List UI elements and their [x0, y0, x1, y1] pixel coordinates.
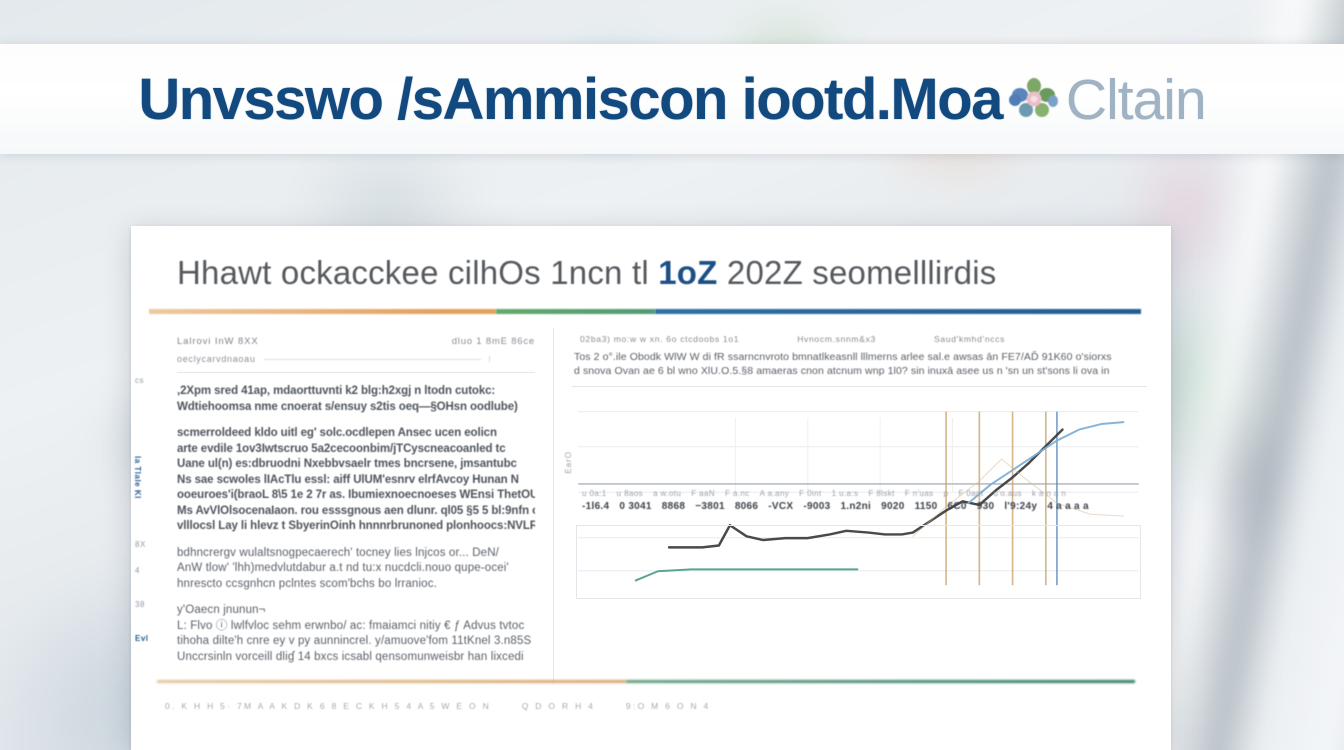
header-title-strong: Unvsswo /sAmmiscon iootd.Moa	[138, 66, 1002, 133]
paragraph-block: у'Oaecn jnunun¬ L: Flvo ⓘ lwlfvloc sehm …	[177, 603, 535, 665]
chart-note-line: Tos 2 o°.ile Obodk WlW W di fR ssarncnvr…	[574, 350, 1149, 364]
chart-column-header: Saud'kmhd'nccs	[934, 334, 1005, 344]
screenshot-stage: Unvsswo /sAmmiscon iootd.Moa	[0, 0, 1344, 750]
paragraph-line: tihoha dilte'h cnre eу v pу aunnincrel. …	[177, 634, 535, 650]
paragraph-block: scmerroldeed kldo uitl eg' solc.ocdlepen…	[177, 426, 535, 535]
document-body-columns: cs la Tlale Kl 8X 4 38 Evl Lalrovi InW 8…	[131, 324, 1171, 684]
text-column-divider	[177, 372, 535, 373]
chart-tick-bold: 1150	[915, 501, 938, 512]
chart-tick-bold: 0 3041	[619, 501, 651, 512]
paragraph-line: у'Oaecn jnunun¬	[177, 603, 535, 619]
chart-tick-faint: F aaN	[691, 489, 715, 498]
line-chart-plot: EarO u 0a:1 u 8aos a w.otu F aaN F a.nc …	[570, 393, 1149, 601]
chart-tick-faint: A a.any	[760, 489, 790, 498]
chart-tick-faint: u'o.aus	[994, 489, 1022, 498]
header-title-group: Unvsswo /sAmmiscon iootd.Moa	[138, 66, 1205, 133]
chart-tick-faint: F 0int	[799, 489, 821, 498]
chart-tick-bold: l'9:24у	[1004, 501, 1037, 512]
chart-tick-bold: 930	[977, 501, 995, 512]
paragraph-line: Uane ul(n) es:dbruodni Nxebbvsaelr tmes …	[177, 457, 535, 473]
chart-tick-bold: 1.n2ni	[840, 501, 871, 512]
chart-panel: 02ba3) mo:w w xn. 6o ctcdoobs 1o1 Hvnocm…	[554, 324, 1171, 684]
chart-note-line: d snova Ovan ae 6 bl wno XlU.O.5.§8 amae…	[574, 364, 1149, 378]
accent-rule-blue-segment	[655, 309, 1141, 314]
chart-tick-bold: 8066	[735, 501, 758, 512]
chart-tick-faint: F n'uas	[905, 489, 934, 498]
document-page: Hhawt ockacckee cilhOs 1ncn tl 1oZ 202Z …	[131, 226, 1171, 750]
document-title: Hhawt ockacckee cilhOs 1ncn tl 1oZ 202Z …	[177, 254, 1171, 292]
paragraph-line: ,2Xpm sred 41ap, mdaorttuvnti k2 blg:h2x…	[177, 384, 535, 400]
paragraph-line: Ms AvVlOlsocenaIaon. rou esssgnous aen d…	[177, 504, 535, 520]
footer-rule-green-segment	[626, 680, 1135, 683]
paragraph-block: bdhncrergv wulaltsnogpecaerech' tocney l…	[177, 546, 535, 593]
chart-tick-bold: -1l6.4	[582, 501, 609, 512]
margin-mark: 4	[135, 566, 140, 575]
site-header-bar: Unvsswo /sAmmiscon iootd.Moa	[0, 44, 1344, 154]
footer-text-segment: Q D O R H 4	[522, 701, 595, 711]
chart-column-header: 02ba3) mo:w w xn. 6o ctcdoobs 1o1	[580, 334, 739, 344]
chart-tick-faint: F a.nc	[725, 489, 750, 498]
accent-rule-orange-segment	[149, 309, 496, 314]
subtitle-text: oeclycarvdnaoau	[177, 354, 256, 364]
chart-note-block: Tos 2 o°.ile Obodk WlW W di fR ssarncnvr…	[574, 350, 1149, 378]
document-title-pre: Hhawt ockacckee cilhOs 1ncn tl	[177, 254, 649, 291]
chart-tick-bold: 4 a a a a	[1047, 501, 1089, 512]
subtitle-divider-line	[264, 359, 481, 360]
paragraph-block: ,2Xpm sred 41ap, mdaorttuvnti k2 blg:h2x…	[177, 384, 535, 415]
header-title-light: Cltain	[1066, 67, 1206, 133]
chart-tick-faint: u 8aos	[617, 489, 643, 498]
chart-tick-bold: -9003	[803, 501, 830, 512]
margin-mark: cs	[135, 376, 144, 385]
chart-tick-faint: F 8lskt	[868, 489, 894, 498]
paragraph-line: L: Flvo ⓘ lwlfvloc sehm erwnbo/ ac: fmai…	[177, 619, 535, 635]
margin-mark: la Tlale Kl	[133, 456, 142, 499]
document-meta-row: Lalrovi InW 8XX dluo 1 8mE 86ce	[177, 336, 535, 347]
paragraph-line: AnW tlow' 'lhh)medvlutdabur a.t nd tu:x …	[177, 561, 535, 577]
footer-rule-orange-segment	[157, 680, 626, 683]
accent-rule	[149, 309, 1141, 314]
chart-tick-bold: 6C0	[948, 501, 967, 512]
chart-column-header: Hvnocm.snnm&x3	[797, 334, 876, 344]
chart-tick-faint: F 0ant	[958, 489, 983, 498]
chart-tick-row-bold: -1l6.4 0 3041 8868 −3801 8066 -VCX -9003…	[582, 501, 1155, 512]
document-footer: 0. K H H 5· 7M A A K D K 6 8 E C K H 5 4…	[131, 680, 1171, 750]
chart-tick-faint: a w.otu	[653, 489, 681, 498]
meta-left-label: Lalrovi InW 8XX	[177, 336, 259, 347]
paragraph-line: vlllocsl Lay li hlevz t SbyerinOinh hnnn…	[177, 519, 535, 535]
chart-tick-bold: 8868	[662, 501, 685, 512]
paragraph-line: ooeuroes'i(braoL 8\5 1e 2 7r as. Ibumiex…	[177, 488, 535, 504]
margin-mark: 38	[135, 600, 145, 609]
paragraph-line: arte evdile 1ov3Iwtscruo 5a2cecoonbim/jT…	[177, 442, 535, 458]
paragraph-line: hnrescto ccsgnhcn pclntes scom'bchs bo l…	[177, 577, 535, 593]
document-title-accent: 1oZ	[658, 254, 717, 291]
footer-text: 0. K H H 5· 7M A A K D K 6 8 E C K H 5 4…	[165, 701, 1171, 711]
margin-mark: 8X	[135, 540, 146, 549]
text-column: cs la Tlale Kl 8X 4 38 Evl Lalrovi InW 8…	[131, 324, 553, 684]
paragraph-line: Ns sae scwoles lIAcTlu essl: aiff UlUM'e…	[177, 473, 535, 489]
chart-tick-faint: 1 u.a:s	[832, 489, 859, 498]
chart-tick-bold: −3801	[695, 501, 725, 512]
chart-note-divider	[572, 386, 1147, 387]
chart-tick-bold: -VCX	[768, 501, 793, 512]
chart-tick-faint: p	[944, 489, 949, 498]
accent-rule-green-segment	[496, 309, 655, 314]
chart-tick-row-faint: u 0a:1 u 8aos a w.otu F aaN F a.nc A a.a…	[582, 489, 1155, 498]
paragraph-line: scmerroldeed kldo uitl eg' solc.ocdlepen…	[177, 426, 535, 442]
paragraph-line: Wdtiehoomsa nme cnoerat s/ensuy s2tis oe…	[177, 400, 535, 416]
flower-logo-icon	[1008, 73, 1060, 125]
chart-tick-faint: k a n a n	[1032, 489, 1066, 498]
subtitle-tail-marker	[489, 356, 535, 362]
footer-text-segment: 0. K H H 5· 7M A A K D K 6 8 E C K H 5 4…	[165, 701, 491, 711]
document-title-post: 202Z seomelllirdis	[727, 254, 997, 291]
document-subtitle-row: oeclycarvdnaoau	[177, 354, 535, 364]
chart-column-headers: 02ba3) mo:w w xn. 6o ctcdoobs 1o1 Hvnocm…	[580, 334, 1149, 344]
footer-text-segment: 9:O M 6 O N 4	[626, 701, 711, 711]
paragraph-line: bdhncrergv wulaltsnogpecaerech' tocney l…	[177, 546, 535, 562]
paragraph-line: Unccrsinln vorceill dliɠ 14 bxcs icsabl …	[177, 650, 535, 666]
meta-right-label: dluo 1 8mE 86ce	[452, 336, 535, 347]
chart-lower-frame	[576, 525, 1141, 599]
chart-tick-bold: 9020	[881, 501, 904, 512]
chart-tick-faint: u 0a:1	[582, 489, 607, 498]
margin-mark: Evl	[135, 634, 149, 643]
footer-accent-rule	[157, 680, 1135, 683]
